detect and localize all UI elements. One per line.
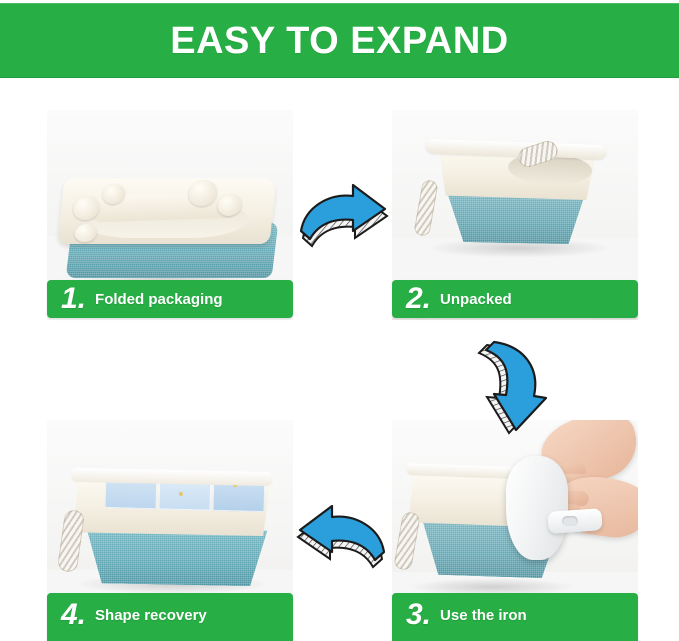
steam-iron: [500, 456, 592, 560]
step-number-1: 1.: [61, 284, 86, 314]
iron-body: [506, 456, 568, 560]
step-text-4: Shape recovery: [95, 608, 207, 623]
iron-button: [562, 516, 578, 526]
step-number-2: 2.: [406, 284, 431, 314]
arrow-right-icon: [295, 183, 390, 255]
arrow-left-icon: [295, 504, 390, 576]
step-number-4: 4.: [61, 600, 86, 630]
folded-basket: [61, 168, 279, 286]
restored-basket: [69, 462, 275, 592]
arrow-down-icon: [472, 338, 554, 442]
basket-teal-base: [434, 192, 598, 244]
step-number-3: 3.: [406, 600, 431, 630]
step-label-2: 2. Unpacked: [392, 280, 638, 318]
step-text-1: Folded packaging: [95, 292, 223, 307]
fabric-pattern-dot: [179, 492, 183, 496]
basket-teal-base: [79, 528, 269, 586]
step-label-4: 4. Shape recovery: [47, 593, 293, 641]
step-text-2: Unpacked: [440, 292, 512, 307]
basket-cream-top: [58, 178, 277, 244]
page-title: EASY TO EXPAND: [170, 22, 509, 60]
step-label-1: 1. Folded packaging: [47, 280, 293, 318]
rope-knot: [74, 224, 98, 242]
unpacked-basket: [422, 146, 608, 256]
step-text-3: Use the iron: [440, 608, 527, 623]
header-banner: EASY TO EXPAND: [0, 3, 679, 78]
step-label-3: 3. Use the iron: [392, 593, 638, 641]
